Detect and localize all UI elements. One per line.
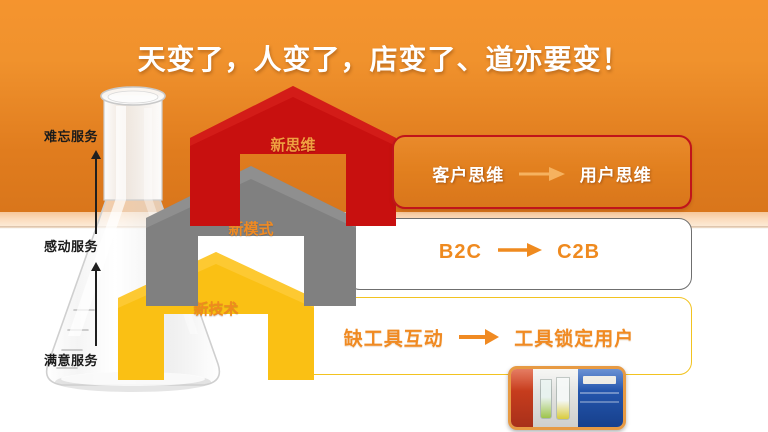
stage-arrow-label-new-thinking: 新思维	[190, 134, 396, 155]
statement-to-thinking: 用户思维	[580, 166, 652, 185]
statement-from-model: B2C	[439, 241, 482, 263]
stage-arrow-new-thinking[interactable]: 新思维	[190, 86, 396, 226]
photo-gloss-overlay	[511, 369, 623, 391]
axis-label-level-3: 难忘服务	[44, 126, 98, 145]
statement-from-thinking: 客户思维	[432, 166, 504, 185]
statement-to-technology: 工具锁定用户	[514, 329, 634, 350]
statement-to-model: C2B	[557, 241, 600, 263]
slide-canvas: 天变了，人变了，店变了、道亦要变！ 难忘服务 感动服务 满意服务 新技术 新模式…	[0, 0, 768, 432]
flow-arrow-icon	[519, 166, 565, 187]
statement-panel-thinking[interactable]: 客户思维 用户思维	[392, 135, 692, 209]
flow-arrow-icon	[498, 241, 542, 264]
slide-title: 天变了，人变了，店变了、道亦要变！	[0, 38, 768, 78]
statement-from-technology: 缺工具互动	[344, 329, 444, 350]
statement-panel-technology[interactable]: 缺工具互动 工具锁定用户	[286, 297, 692, 375]
photo-stripe-2	[580, 401, 618, 403]
statement-panel-model-text: B2C C2B	[348, 241, 691, 264]
statement-panel-technology-text: 缺工具互动 工具锁定用户	[287, 324, 691, 351]
statement-panel-thinking-text: 客户思维 用户思维	[394, 161, 690, 187]
lab-equipment-photo[interactable]	[508, 366, 626, 430]
photo-stripe-1	[580, 392, 618, 394]
axis-arrow-upper	[90, 150, 102, 234]
axis-label-level-1: 满意服务	[44, 350, 98, 369]
axis-label-level-2: 感动服务	[44, 236, 98, 255]
statement-panel-model[interactable]: B2C C2B	[347, 218, 692, 290]
flow-arrow-icon	[459, 329, 499, 351]
axis-arrow-lower	[90, 262, 102, 346]
